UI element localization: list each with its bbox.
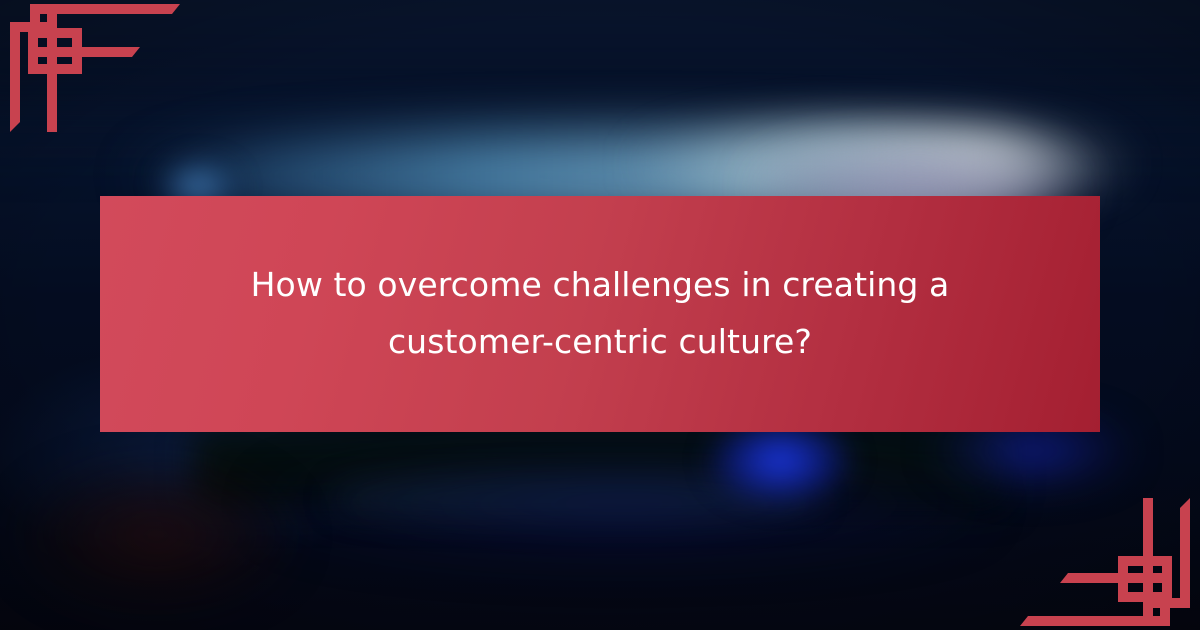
page-title: How to overcome challenges in creating a…	[240, 257, 960, 371]
title-banner: How to overcome challenges in creating a…	[100, 196, 1100, 432]
share-card-canvas: How to overcome challenges in creating a…	[0, 0, 1200, 630]
